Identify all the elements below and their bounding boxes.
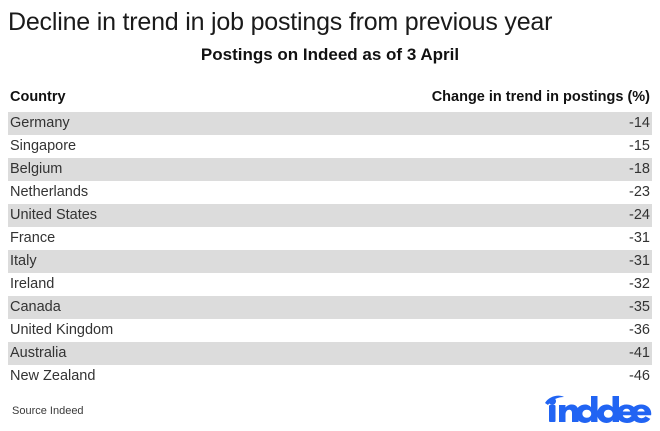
postings-table: Country Change in trend in postings (%) … <box>8 88 652 388</box>
cell-country: United States <box>10 204 97 227</box>
table-row: Singapore-15 <box>8 135 652 158</box>
table-body: Germany-14Singapore-15Belgium-18Netherla… <box>8 112 652 388</box>
indeed-logo <box>544 396 652 424</box>
cell-country: Netherlands <box>10 181 88 204</box>
table-row: Germany-14 <box>8 112 652 135</box>
page-subtitle: Postings on Indeed as of 3 April <box>0 44 660 65</box>
cell-country: Singapore <box>10 135 76 158</box>
table-row: France-31 <box>8 227 652 250</box>
table-row: Belgium-18 <box>8 158 652 181</box>
cell-country: United Kingdom <box>10 319 113 342</box>
cell-change-value: -18 <box>629 158 650 181</box>
cell-change-value: -41 <box>629 342 650 365</box>
cell-country: Belgium <box>10 158 62 181</box>
cell-change-value: -31 <box>629 227 650 250</box>
cell-country: France <box>10 227 55 250</box>
source-note: Source Indeed <box>12 405 84 417</box>
table-row: Canada-35 <box>8 296 652 319</box>
cell-change-value: -24 <box>629 204 650 227</box>
column-header-country: Country <box>10 88 66 107</box>
cell-country: Canada <box>10 296 61 319</box>
cell-change-value: -36 <box>629 319 650 342</box>
table-row: Italy-31 <box>8 250 652 273</box>
cell-country: Italy <box>10 250 37 273</box>
cell-country: Germany <box>10 112 70 135</box>
cell-change-value: -32 <box>629 273 650 296</box>
cell-change-value: -23 <box>629 181 650 204</box>
cell-change-value: -14 <box>629 112 650 135</box>
column-header-change: Change in trend in postings (%) <box>432 88 650 107</box>
table-row: United Kingdom-36 <box>8 319 652 342</box>
cell-change-value: -46 <box>629 365 650 388</box>
cell-change-value: -35 <box>629 296 650 319</box>
cell-change-value: -31 <box>629 250 650 273</box>
table-row: United States-24 <box>8 204 652 227</box>
table-row: New Zealand-46 <box>8 365 652 388</box>
cell-country: Ireland <box>10 273 54 296</box>
table-row: Australia-41 <box>8 342 652 365</box>
cell-country: Australia <box>10 342 66 365</box>
cell-change-value: -15 <box>629 135 650 158</box>
page-title: Decline in trend in job postings from pr… <box>8 7 656 37</box>
table-row: Ireland-32 <box>8 273 652 296</box>
table-header-row: Country Change in trend in postings (%) <box>8 88 652 109</box>
infographic-page: Decline in trend in job postings from pr… <box>0 0 660 431</box>
table-row: Netherlands-23 <box>8 181 652 204</box>
cell-country: New Zealand <box>10 365 95 388</box>
